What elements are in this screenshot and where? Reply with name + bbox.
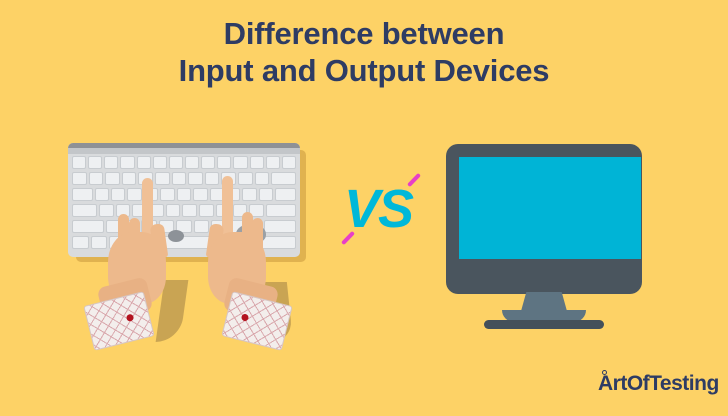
keyboard-key xyxy=(242,188,256,201)
keyboard-key-ctrl xyxy=(72,236,89,249)
keyboard-key xyxy=(89,172,104,185)
title-line-2: Input and Output Devices xyxy=(0,53,728,90)
keyboard-thumb-shadow-2 xyxy=(168,230,184,242)
monitor-bezel xyxy=(446,144,642,294)
keyboard-key xyxy=(217,156,231,169)
keyboard-row xyxy=(72,188,296,201)
keyboard-key xyxy=(266,156,280,169)
keyboard-key xyxy=(185,156,199,169)
keyboard-key-shift-left xyxy=(72,220,104,233)
right-cuff-button xyxy=(241,313,249,321)
left-shirt-cuff xyxy=(83,291,154,351)
keyboard-key xyxy=(127,188,141,201)
keyboard-key xyxy=(122,172,137,185)
keyboard-row xyxy=(72,172,296,185)
keyboard-key-backspace xyxy=(271,172,296,185)
keyboard-key-tab xyxy=(72,188,93,201)
keyboard-key xyxy=(193,188,207,201)
keyboard-key xyxy=(155,172,170,185)
keyboard-key xyxy=(153,156,167,169)
keyboard-key xyxy=(99,204,114,217)
keyboard-key xyxy=(255,172,270,185)
keyboard-key xyxy=(104,156,118,169)
versus-label: VS xyxy=(344,182,412,236)
keyboard-row xyxy=(72,204,296,217)
keyboard-key xyxy=(120,156,134,169)
keyboard-key xyxy=(72,156,86,169)
keyboard-key-capslock xyxy=(72,204,97,217)
input-device-illustration xyxy=(56,132,324,344)
keyboard-key xyxy=(205,172,220,185)
keyboard-key xyxy=(137,156,151,169)
keyboard-row xyxy=(72,156,296,169)
keyboard-key-enter xyxy=(266,204,296,217)
keyboard-key xyxy=(169,156,183,169)
brand-logo[interactable]: ArtOfTesting xyxy=(592,371,716,401)
infographic-canvas: Difference between Input and Output Devi… xyxy=(0,0,728,416)
keyboard-key xyxy=(88,156,102,169)
keyboard-key xyxy=(95,188,109,201)
keyboard-key xyxy=(275,188,296,201)
keyboard-key xyxy=(105,172,120,185)
keyboard-key xyxy=(166,204,181,217)
keyboard-key xyxy=(259,188,273,201)
keyboard-key-shift-right xyxy=(264,220,296,233)
title-line-1: Difference between xyxy=(0,16,728,53)
keyboard-key xyxy=(111,188,125,201)
keyboard-key xyxy=(250,156,264,169)
keyboard-top-edge-highlight xyxy=(68,148,300,154)
keyboard-key xyxy=(182,204,197,217)
keyboard-key xyxy=(282,156,296,169)
keyboard-key xyxy=(201,156,215,169)
monitor-stand-neck xyxy=(518,292,570,322)
keyboard-key xyxy=(233,156,247,169)
right-index-finger xyxy=(222,176,233,236)
monitor-stand-base xyxy=(484,320,604,329)
keyboard-key-alt xyxy=(91,236,108,249)
keyboard-key xyxy=(188,172,203,185)
keyboard-key xyxy=(199,204,214,217)
logo-text: ArtOfTesting xyxy=(598,372,719,396)
keyboard-key xyxy=(172,172,187,185)
keyboard-key xyxy=(238,172,253,185)
keyboard-key xyxy=(194,220,210,233)
monitor-screen xyxy=(459,157,641,259)
page-title: Difference between Input and Output Devi… xyxy=(0,16,728,89)
keyboard-key xyxy=(177,188,191,201)
output-device-illustration xyxy=(440,138,650,338)
keyboard-key xyxy=(72,172,87,185)
left-cuff-button xyxy=(126,313,134,321)
versus-badge: VS xyxy=(334,168,438,264)
keyboard-key xyxy=(160,188,174,201)
